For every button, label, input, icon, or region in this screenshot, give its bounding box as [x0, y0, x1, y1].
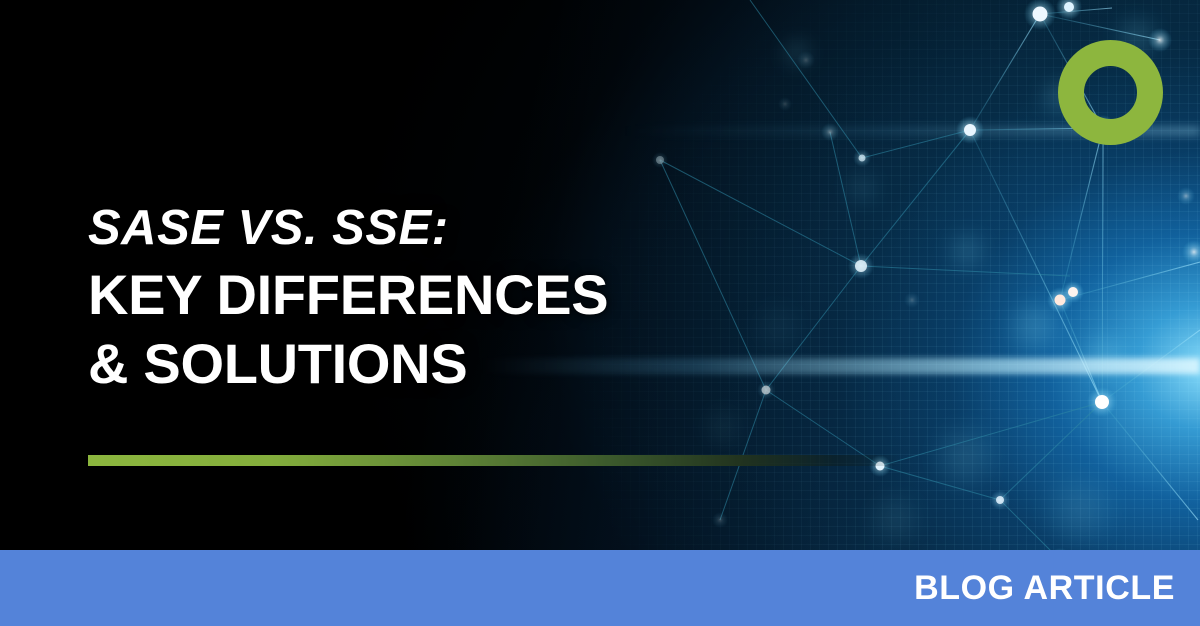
ring-logo-icon [1058, 40, 1163, 145]
banner-label: BLOG ARTICLE [914, 569, 1175, 608]
blog-article-hero-banner: SASE VS. SSE: KEY DIFFERENCES & SOLUTION… [0, 0, 1200, 626]
bottom-banner: BLOG ARTICLE [0, 550, 1200, 626]
accent-divider [88, 455, 900, 466]
headline-block: SASE VS. SSE: KEY DIFFERENCES & SOLUTION… [88, 196, 888, 398]
headline-line-1: KEY DIFFERENCES [88, 260, 888, 329]
headline-line-2: & SOLUTIONS [88, 329, 888, 398]
headline-kicker: SASE VS. SSE: [88, 196, 888, 260]
